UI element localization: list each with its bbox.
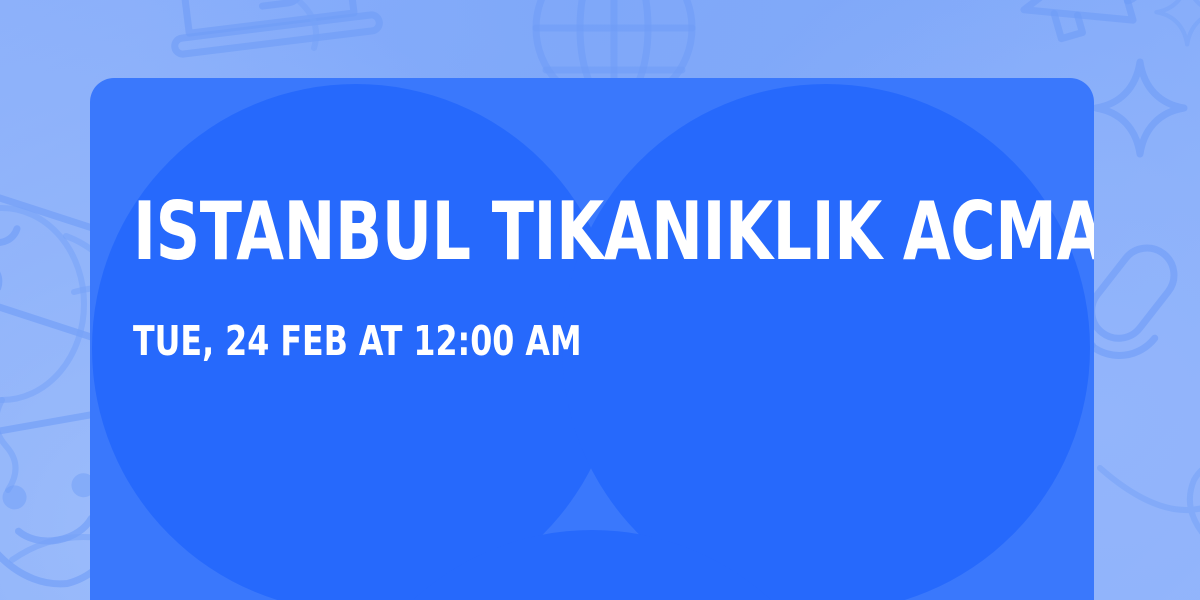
streamer-ribbon-icon (1100, 404, 1200, 577)
balloon-icon (0, 208, 84, 490)
laptop-icon (165, 0, 380, 55)
card-text-block: ISTANBUL TIKANIKLIK ACMA TUE, 24 FEB AT … (133, 193, 1054, 362)
event-date: TUE, 24 FEB AT 12:00 AM (133, 271, 925, 362)
sparkle-icon (1096, 62, 1184, 154)
event-graphic-canvas: ISTANBUL TIKANIKLIK ACMA TUE, 24 FEB AT … (0, 0, 1200, 600)
event-card[interactable]: ISTANBUL TIKANIKLIK ACMA TUE, 24 FEB AT … (90, 78, 1094, 600)
event-title: ISTANBUL TIKANIKLIK ACMA (133, 193, 925, 271)
sparkle-icon (1156, 0, 1200, 44)
megaphone-icon (1013, 0, 1152, 48)
